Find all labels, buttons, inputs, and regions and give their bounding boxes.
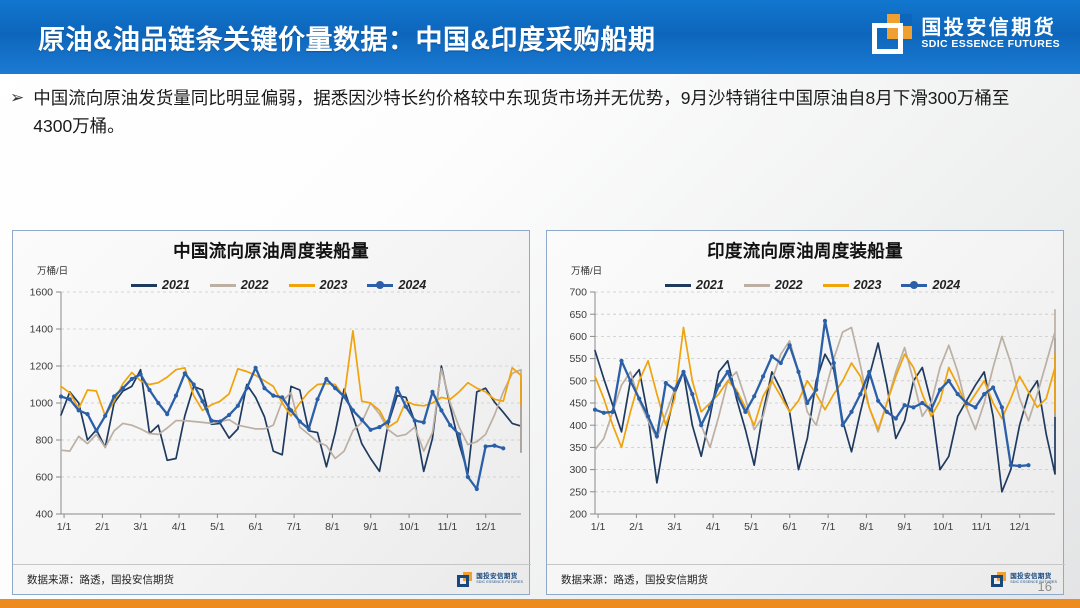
chart-title-india: 印度流向原油周度装船量: [547, 231, 1063, 263]
line-chart-india: 2002503003504004505005506006507001/12/13…: [547, 286, 1065, 544]
y-axis-unit-china: 万桶/日: [37, 263, 68, 277]
svg-text:450: 450: [569, 398, 587, 410]
bullet-body-text: 中国流向原油发货量同比明显偏弱，据悉因沙特长约价格较中东现货市场并无优势，9月沙…: [33, 84, 1040, 141]
svg-text:2/1: 2/1: [629, 521, 644, 533]
source-text-china: 数据来源：路透，国投安信期货: [27, 572, 174, 587]
svg-text:6/1: 6/1: [782, 521, 797, 533]
svg-text:300: 300: [569, 464, 587, 476]
svg-text:7/1: 7/1: [821, 521, 836, 533]
chart-title-china: 中国流向原油周度装船量: [13, 231, 529, 263]
y-axis-unit-india: 万桶/日: [571, 263, 602, 277]
watermark-logo-china: 国投安信期货 SDIC ESSENCE FUTURES: [457, 572, 523, 587]
svg-text:3/1: 3/1: [133, 521, 148, 533]
page-header: 原油&油品链条关键价量数据：中国&印度采购船期 国投安信期货 SDIC ESSE…: [0, 0, 1080, 74]
svg-text:11/1: 11/1: [972, 521, 992, 533]
svg-text:9/1: 9/1: [897, 521, 912, 533]
svg-text:1200: 1200: [30, 361, 54, 373]
svg-text:4/1: 4/1: [706, 521, 721, 533]
svg-text:7/1: 7/1: [287, 521, 302, 533]
svg-text:500: 500: [569, 375, 587, 387]
svg-text:200: 200: [569, 509, 587, 521]
source-row-india: 数据来源：路透，国投安信期货 国投安信期货 SDIC ESSENCE FUTUR…: [547, 564, 1065, 594]
bullet-arrow-icon: ➢: [10, 84, 24, 111]
svg-text:400: 400: [569, 420, 587, 432]
svg-text:6/1: 6/1: [248, 521, 263, 533]
svg-text:4/1: 4/1: [172, 521, 187, 533]
svg-text:400: 400: [35, 509, 53, 521]
chart-panel-india: 印度流向原油周度装船量 万桶/日 2021 2022 2023 2024 200…: [546, 230, 1064, 595]
svg-text:600: 600: [35, 472, 53, 484]
svg-text:700: 700: [569, 287, 587, 299]
logo-mark-icon: [872, 14, 912, 54]
svg-text:8/1: 8/1: [325, 521, 340, 533]
source-text-india: 数据来源：路透，国投安信期货: [561, 572, 708, 587]
svg-text:550: 550: [569, 353, 587, 365]
svg-text:11/1: 11/1: [438, 521, 458, 533]
svg-text:1600: 1600: [30, 287, 54, 299]
svg-text:2/1: 2/1: [95, 521, 110, 533]
page-title: 原油&油品链条关键价量数据：中国&印度采购船期: [38, 18, 656, 57]
logo-english-name: SDIC ESSENCE FUTURES: [921, 39, 1060, 50]
svg-text:1000: 1000: [30, 398, 54, 410]
svg-text:12/1: 12/1: [1010, 521, 1031, 533]
plot-area-india: 2002503003504004505005506006507001/12/13…: [547, 286, 1065, 544]
logo-chinese-name: 国投安信期货: [921, 18, 1060, 39]
svg-text:1/1: 1/1: [57, 521, 72, 533]
svg-text:5/1: 5/1: [210, 521, 225, 533]
svg-text:350: 350: [569, 442, 587, 454]
svg-text:9/1: 9/1: [363, 521, 378, 533]
footer-accent-bar: [0, 599, 1080, 608]
svg-text:250: 250: [569, 486, 587, 498]
mini-logo-en: SDIC ESSENCE FUTURES: [476, 581, 523, 585]
svg-text:1400: 1400: [30, 324, 54, 336]
svg-text:800: 800: [35, 435, 53, 447]
mini-logo-mark-icon: [457, 572, 472, 587]
chart-panel-china: 中国流向原油周度装船量 万桶/日 2021 2022 2023 2024 400…: [12, 230, 530, 595]
svg-text:600: 600: [569, 331, 587, 343]
company-logo: 国投安信期货 SDIC ESSENCE FUTURES: [872, 14, 1060, 54]
plot-area-china: 40060080010001200140016001/12/13/14/15/1…: [13, 286, 531, 544]
bullet-paragraph: ➢ 中国流向原油发货量同比明显偏弱，据悉因沙特长约价格较中东现货市场并无优势，9…: [10, 84, 1040, 141]
line-chart-china: 40060080010001200140016001/12/13/14/15/1…: [13, 286, 531, 544]
svg-text:10/1: 10/1: [399, 521, 420, 533]
svg-text:650: 650: [569, 309, 587, 321]
source-row-china: 数据来源：路透，国投安信期货 国投安信期货 SDIC ESSENCE FUTUR…: [13, 564, 531, 594]
svg-text:8/1: 8/1: [859, 521, 874, 533]
mini-logo-mark-icon: [991, 572, 1006, 587]
svg-text:1/1: 1/1: [591, 521, 606, 533]
svg-text:5/1: 5/1: [744, 521, 759, 533]
page-number: 16: [1038, 579, 1052, 594]
svg-text:12/1: 12/1: [476, 521, 497, 533]
svg-text:3/1: 3/1: [667, 521, 682, 533]
svg-text:10/1: 10/1: [933, 521, 954, 533]
